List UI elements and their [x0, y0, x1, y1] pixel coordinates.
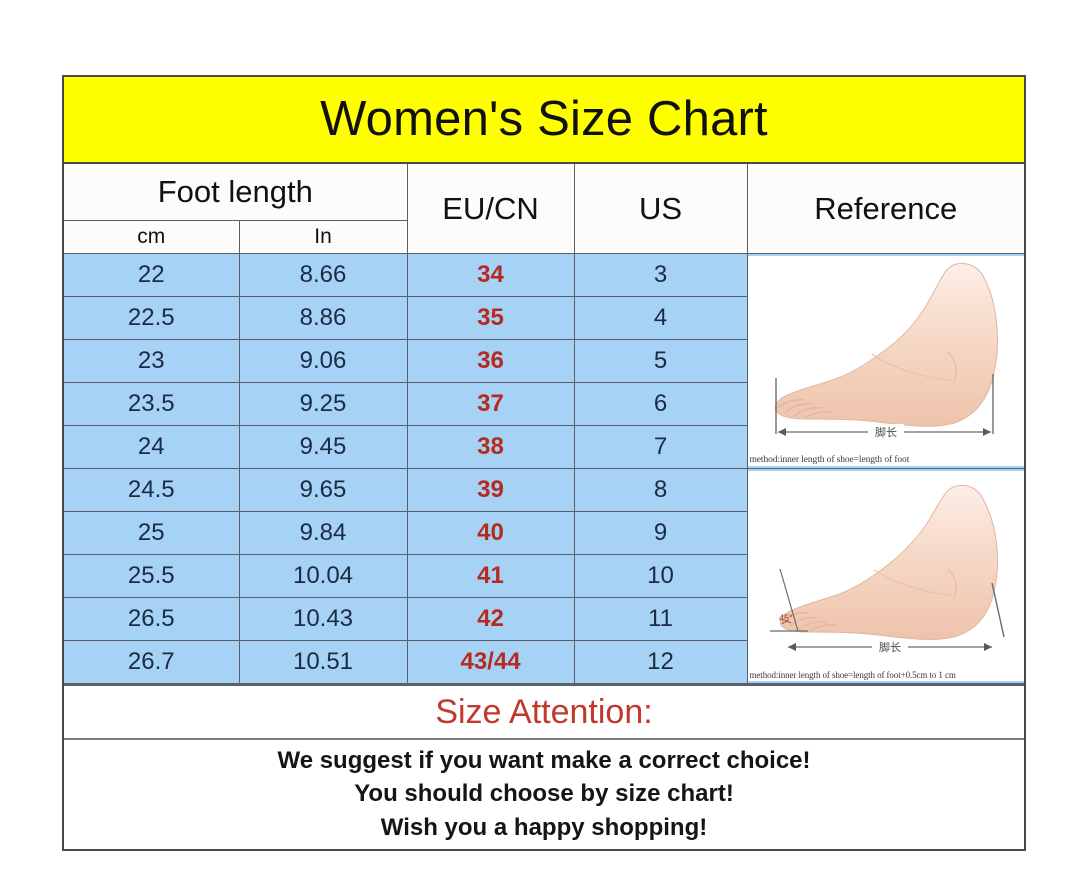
cell-eu: 39: [407, 469, 574, 512]
cell-in: 10.51: [239, 641, 407, 684]
size-attention-bar: Size Attention:: [64, 684, 1024, 740]
reference-caption-2: method:inner length of shoe=length of fo…: [750, 670, 1023, 680]
cell-us: 10: [574, 555, 747, 598]
size-chart-container: Women's Size Chart Foot length EU/CN US …: [62, 75, 1026, 851]
cell-us: 7: [574, 426, 747, 469]
cell-cm: 23.5: [64, 383, 239, 426]
cell-in: 8.66: [239, 254, 407, 297]
cell-cm: 23: [64, 340, 239, 383]
cell-in: 9.45: [239, 426, 407, 469]
note-line: Wish you a happy shopping!: [381, 814, 707, 842]
cell-cm: 25.5: [64, 555, 239, 598]
cell-cm: 22.5: [64, 297, 239, 340]
cell-cm: 24.5: [64, 469, 239, 512]
foot-side-view-icon: 脚长: [752, 256, 1020, 452]
cell-us: 4: [574, 297, 747, 340]
chart-title-bar: Women's Size Chart: [64, 77, 1024, 164]
column-header-reference: Reference: [747, 164, 1024, 254]
cell-in: 8.86: [239, 297, 407, 340]
cell-eu: 43/44: [407, 641, 574, 684]
column-header-in: In: [239, 221, 407, 254]
cell-cm: 26.5: [64, 598, 239, 641]
reference-image-cell-2: 45° 脚长 method:inner length of shoe=lengt…: [747, 469, 1024, 684]
table-header-row-main: Foot length EU/CN US Reference: [64, 164, 1024, 221]
cell-eu: 37: [407, 383, 574, 426]
cell-in: 9.25: [239, 383, 407, 426]
measure-label-1: 脚长: [875, 425, 897, 439]
column-header-us: US: [574, 164, 747, 254]
page-title: Women's Size Chart: [320, 95, 768, 144]
cell-in: 10.43: [239, 598, 407, 641]
measure-label-2: 脚长: [879, 640, 901, 654]
cell-us: 9: [574, 512, 747, 555]
foot-diagram-1: 脚长 method:inner length of shoe=length of…: [748, 256, 1025, 466]
cell-eu: 34: [407, 254, 574, 297]
foot-side-view-angle-icon: 45° 脚长: [752, 471, 1020, 667]
column-header-foot-length: Foot length: [64, 164, 407, 221]
cell-eu: 40: [407, 512, 574, 555]
table-row: 24.5 9.65 39 8: [64, 469, 1024, 512]
cell-eu: 38: [407, 426, 574, 469]
cell-in: 9.06: [239, 340, 407, 383]
cell-eu: 41: [407, 555, 574, 598]
size-table: Foot length EU/CN US Reference cm In 22 …: [64, 164, 1024, 684]
cell-eu: 42: [407, 598, 574, 641]
cell-in: 10.04: [239, 555, 407, 598]
foot-diagram-2: 45° 脚长 method:inner length of shoe=lengt…: [748, 471, 1025, 681]
cell-us: 12: [574, 641, 747, 684]
note-line: You should choose by size chart!: [354, 780, 734, 808]
cell-eu: 35: [407, 297, 574, 340]
column-header-cm: cm: [64, 221, 239, 254]
cell-in: 9.65: [239, 469, 407, 512]
cell-cm: 26.7: [64, 641, 239, 684]
cell-cm: 22: [64, 254, 239, 297]
cell-us: 8: [574, 469, 747, 512]
reference-image-cell-1: 脚长 method:inner length of shoe=length of…: [747, 254, 1024, 469]
cell-us: 6: [574, 383, 747, 426]
angle-label: 45°: [779, 613, 793, 623]
column-header-eu-cn: EU/CN: [407, 164, 574, 254]
cell-us: 5: [574, 340, 747, 383]
note-line: We suggest if you want make a correct ch…: [277, 747, 810, 775]
cell-eu: 36: [407, 340, 574, 383]
cell-us: 11: [574, 598, 747, 641]
size-attention-heading: Size Attention:: [435, 693, 652, 732]
cell-in: 9.84: [239, 512, 407, 555]
cell-cm: 25: [64, 512, 239, 555]
reference-caption-1: method:inner length of shoe=length of fo…: [750, 455, 1023, 465]
cell-us: 3: [574, 254, 747, 297]
table-row: 22 8.66 34 3: [64, 254, 1024, 297]
size-attention-notes: We suggest if you want make a correct ch…: [64, 740, 1024, 849]
cell-cm: 24: [64, 426, 239, 469]
